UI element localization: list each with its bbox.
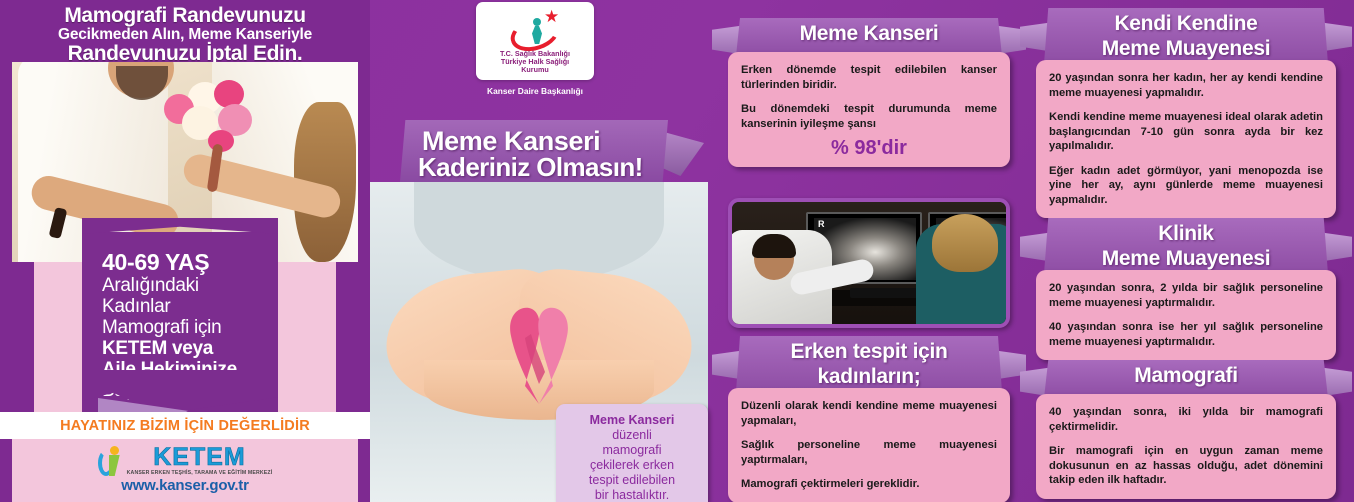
patient-figure xyxy=(916,224,1010,328)
person-icon xyxy=(530,18,544,44)
card-header: Erken tespit için kadınların; xyxy=(728,336,1010,392)
card-body: Erken dönemde tespit edilebilen kanser t… xyxy=(728,52,1010,167)
card-title: Kendi Kendine Meme Muayenesi xyxy=(1036,11,1336,61)
pink-band-left-edge xyxy=(12,262,34,412)
card-kendi-kendine-meme-muayenesi: Kendi Kendine Meme Muayenesi 20 yaşından… xyxy=(1036,8,1336,218)
person-head xyxy=(533,18,541,26)
card-title: Meme Kanseri xyxy=(728,21,1010,46)
mammogram-review-photo: R L xyxy=(728,198,1010,328)
left-panel: Mamografi Randevunuzu Gecikmeden Alın, M… xyxy=(0,0,370,502)
callout-line-5: KETEM veya xyxy=(102,338,264,359)
card-title: Mamografi xyxy=(1036,363,1336,388)
card-body: 20 yaşından sonra, 2 yılda bir sağlık pe… xyxy=(1036,270,1336,360)
note-line-4: tespit edilebilen xyxy=(566,473,698,488)
card-body: Düzenli olarak kendi kendine meme muayen… xyxy=(728,388,1010,502)
breast-cancer-awareness-poster: Mamografi Randevunuzu Gecikmeden Alın, M… xyxy=(0,0,1354,502)
ministry-department: Kanser Daire Başkanlığı xyxy=(466,86,604,96)
ketem-leg xyxy=(109,455,120,476)
card-header: Kendi Kendine Meme Muayenesi xyxy=(1036,8,1336,64)
card-body: 40 yaşından sonra, iki yılda bir mamogra… xyxy=(1036,394,1336,499)
card-paragraph: Bu dönemdeki tespit durumunda meme kanse… xyxy=(741,102,997,131)
ketem-name: KETEM xyxy=(153,445,246,470)
center-title-line-2: Kaderiniz Olmasın! xyxy=(418,152,643,183)
card-body: 20 yaşından sonra her kadın, her ay kend… xyxy=(1036,60,1336,218)
card-header: Mamografi xyxy=(1036,360,1336,398)
card-paragraph: 20 yaşından sonra her kadın, her ay kend… xyxy=(1049,71,1323,100)
note-title: Meme Kanseri xyxy=(566,413,698,428)
card-title: Klinik Meme Muayenesi xyxy=(1036,221,1336,271)
callout-ribbon-tail xyxy=(82,370,278,414)
card-paragraph: Kendi kendine meme muayenesi ideal olara… xyxy=(1049,110,1323,154)
card-paragraph: Sağlık personeline meme muayenesi yaptır… xyxy=(741,438,997,467)
patient-hair xyxy=(932,214,998,272)
card-header: Klinik Meme Muayenesi xyxy=(1036,218,1336,274)
card-meme-kanseri: Meme Kanseri Erken dönemde tespit edileb… xyxy=(728,18,1010,167)
note-line-1: düzenli xyxy=(566,428,698,443)
survival-rate-highlight: % 98'dir xyxy=(741,141,997,156)
callout-line-4: Mamografi için xyxy=(102,317,264,338)
slogan-bar: HAYATINIZ BİZİM İÇİN DEĞERLİDİR xyxy=(0,412,370,439)
card-paragraph: Bir mamografi için en uygun zaman meme d… xyxy=(1049,444,1323,488)
doctor-hair xyxy=(752,234,796,258)
card-paragraph: Eğer kadın adet görmüyor, yani menopozda… xyxy=(1049,164,1323,208)
left-headline: Mamografi Randevunuzu Gecikmeden Alın, M… xyxy=(0,0,370,62)
person-body xyxy=(532,26,542,44)
card-paragraph: Erken dönemde tespit edilebilen kanser t… xyxy=(741,63,997,92)
ministry-logo: ★ T.C. Sağlık Bakanlığı Türkiye Halk Sağ… xyxy=(476,2,594,94)
headline-line-1: Mamografi Randevunuzu xyxy=(0,5,370,26)
card-title-line-2: Meme Muayenesi xyxy=(1036,36,1336,61)
card-paragraph: Mamografi çektirmeleri gereklidir. xyxy=(741,477,997,492)
callout-line-3: Kadınlar xyxy=(102,296,264,317)
callout-line-1: 40-69 YAŞ xyxy=(102,250,264,275)
ministry-logo-card: ★ T.C. Sağlık Bakanlığı Türkiye Halk Sağ… xyxy=(476,2,594,80)
card-title: Erken tespit için kadınların; xyxy=(728,339,1010,389)
center-title-ribbon: Meme Kanseri Kaderiniz Olmasın! xyxy=(400,120,662,182)
note-line-5: bir hastalıktır. xyxy=(566,488,698,502)
card-mamografi: Mamografi 40 yaşından sonra, iki yılda b… xyxy=(1036,360,1336,499)
card-klinik-meme-muayenesi: Klinik Meme Muayenesi 20 yaşından sonra,… xyxy=(1036,218,1336,360)
ketem-person-icon xyxy=(98,446,124,476)
card-title-line-1: Klinik xyxy=(1036,221,1336,246)
slogan-text: HAYATINIZ BİZİM İÇİN DEĞERLİDİR xyxy=(60,418,310,434)
ketem-tagline: KANSER ERKEN TEŞHİS, TARAMA VE EĞİTİM ME… xyxy=(127,470,273,477)
card-header: Meme Kanseri xyxy=(728,18,1010,56)
pink-ribbon-icon xyxy=(495,300,583,410)
card-title-line-1: Erken tespit için xyxy=(728,339,1010,364)
card-title-line-2: Meme Muayenesi xyxy=(1036,246,1336,271)
ministry-line-3: Kurumu xyxy=(476,65,594,74)
note-line-3: çekilerek erken xyxy=(566,458,698,473)
card-title-line-1: Kendi Kendine xyxy=(1036,11,1336,36)
card-paragraph: 20 yaşından sonra, 2 yılda bir sağlık pe… xyxy=(1049,281,1323,310)
mammogram-label-left: R xyxy=(818,219,825,229)
callout-line-2: Aralığındaki xyxy=(102,275,264,296)
card-paragraph: Düzenli olarak kendi kendine meme muayen… xyxy=(741,399,997,428)
ketem-logo: KETEM KANSER ERKEN TEŞHİS, TARAMA VE EĞİ… xyxy=(12,445,358,477)
pink-band-right-edge xyxy=(336,262,358,412)
headline-line-2: Gecikmeden Alın, Meme Kanseriyle xyxy=(0,26,370,43)
ketem-wordmark: KETEM KANSER ERKEN TEŞHİS, TARAMA VE EĞİ… xyxy=(127,445,273,477)
ketem-logo-area: KETEM KANSER ERKEN TEŞHİS, TARAMA VE EĞİ… xyxy=(12,439,358,502)
card-paragraph: 40 yaşından sonra, iki yılda bir mamogra… xyxy=(1049,405,1323,434)
card-erken-tespit: Erken tespit için kadınların; Düzenli ol… xyxy=(728,336,1010,502)
note-line-2: mamografi xyxy=(566,443,698,458)
website-url[interactable]: www.kanser.gov.tr xyxy=(12,477,358,494)
flower-bouquet xyxy=(160,78,270,158)
card-paragraph: 40 yaşından sonra ise her yıl sağlık per… xyxy=(1049,320,1323,349)
center-note-box: Meme Kanseri düzenli mamografi çekilerek… xyxy=(556,404,708,502)
card-title-line-2: kadınların; xyxy=(728,364,1010,389)
